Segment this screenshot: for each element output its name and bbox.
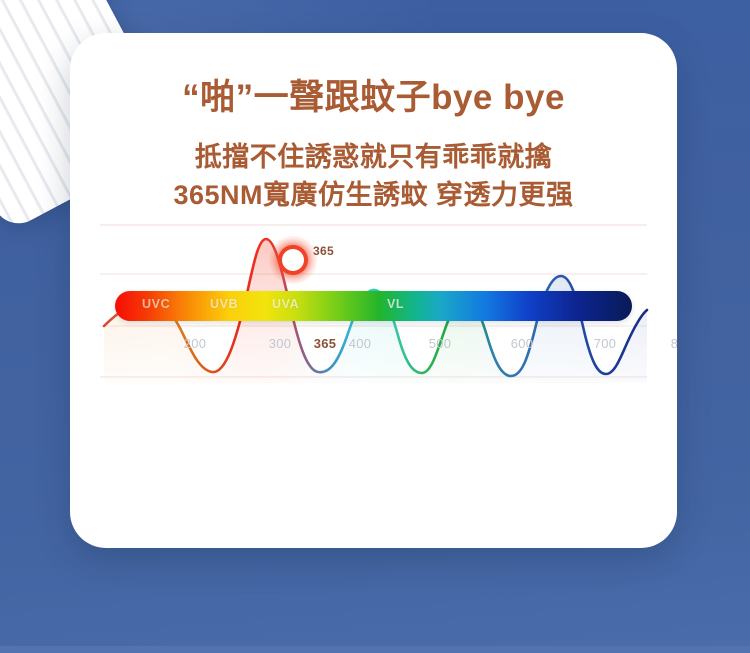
peak-marker-365 [282,249,304,271]
subtitle-line-2: 365NM寬廣仿生誘蚊 穿透力更强 [70,173,677,212]
spectrum-band-label-vl: VL [387,297,404,311]
axis-tick-700: 700 [594,336,617,351]
subtitle-line-1: 抵擋不住誘惑就只有乖乖就擒 [70,135,677,174]
page-title: “啪”一聲跟蚊子bye bye [70,69,677,120]
peak-dot-core [282,249,304,271]
axis-tick-400: 400 [349,336,372,351]
axis-tick-600: 600 [511,336,534,351]
spectrum-color-bar: UVC UVB UVA VL [115,291,632,321]
axis-tick-500: 500 [429,336,452,351]
axis-tick-200: 200 [184,336,207,351]
product-detail-page: + ~ 0 “啪”一聲跟蚊子bye bye 抵擋不住誘惑就只有乖乖就擒 365N… [0,0,750,653]
spectrum-band-label-uvc: UVC [142,297,170,311]
axis-tick-300: 300 [269,336,292,351]
spectrum-band-label-uvb: UVB [210,297,238,311]
background-bottom-band [0,646,750,653]
content-card: “啪”一聲跟蚊子bye bye 抵擋不住誘惑就只有乖乖就擒 365NM寬廣仿生誘… [70,33,677,548]
axis-tick-800: 800 [671,336,677,351]
axis-tick-365: 365 [314,336,337,351]
peak-label-365: 365 [313,244,334,258]
wavelength-axis: 200 300 365 400 500 600 700 800 [70,336,677,358]
spectrum-band-label-uva: UVA [272,297,299,311]
